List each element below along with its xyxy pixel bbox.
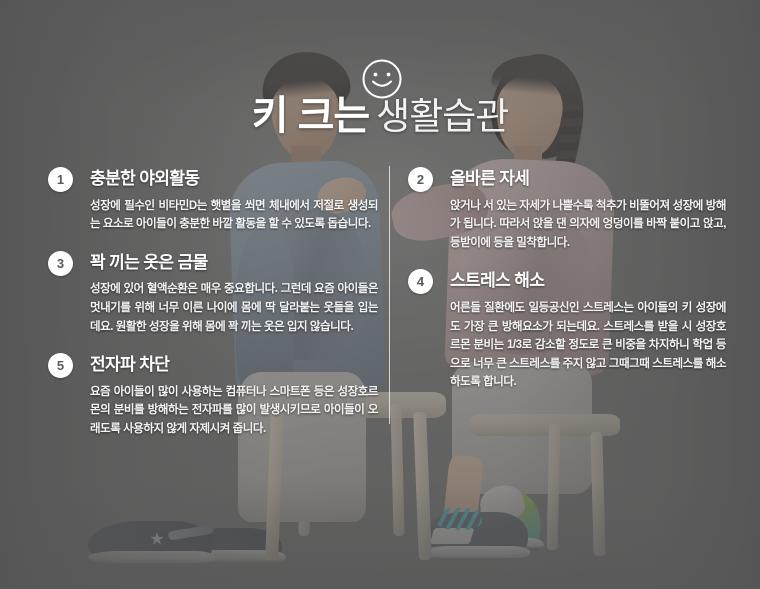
column-divider xyxy=(389,166,390,424)
tip-item-5: 5 전자파 차단 요즘 아이들이 많이 사용하는 컴퓨터나 스마트폰 등은 성장… xyxy=(48,352,378,438)
tip-title: 스트레스 해소 xyxy=(450,268,726,294)
tip-item-4: 4 스트레스 해소 어른들 질환에도 일등공신인 스트레스는 아이들의 키 성장… xyxy=(408,268,726,392)
tip-body: 성장에 필수인 비타민D는 햇볕을 쐬면 체내에서 저절로 생성되는 요소로 아… xyxy=(90,197,378,234)
tip-item-3: 3 꽉 끼는 옷은 금물 성장에 있어 혈액순환은 매우 중요합니다. 그런데 … xyxy=(48,250,378,336)
title-subject: 생활습관 xyxy=(376,96,508,137)
right-column: 2 올바른 자세 앉거나 서 있는 자세가 나쁠수록 척추가 비뚤어져 성장에 … xyxy=(408,166,726,392)
tip-body: 앉거나 서 있는 자세가 나쁠수록 척추가 비뚤어져 성장에 방해가 됩니다. … xyxy=(450,197,726,253)
tip-body: 어른들 질환에도 일등공신인 스트레스는 아이들의 키 성장에도 가장 큰 방해… xyxy=(450,299,726,392)
tip-title: 충분한 야외활동 xyxy=(90,166,378,192)
left-column: 1 충분한 야외활동 성장에 필수인 비타민D는 햇볕을 쐬면 체내에서 저절로… xyxy=(48,166,378,439)
tip-title: 올바른 자세 xyxy=(450,166,726,192)
tip-number-badge: 5 xyxy=(48,353,73,378)
tip-number-badge: 1 xyxy=(48,167,73,192)
title-emphasis: 키 크는 xyxy=(252,94,370,138)
tip-title: 전자파 차단 xyxy=(90,352,378,378)
tip-item-1: 1 충분한 야외활동 성장에 필수인 비타민D는 햇볕을 쐬면 체내에서 저절로… xyxy=(48,166,378,234)
tip-body: 성장에 있어 혈액순환은 매우 중요합니다. 그런데 요즘 아이들은 멋내기를 … xyxy=(90,280,378,336)
tip-body: 요즘 아이들이 많이 사용하는 컴퓨터나 스마트폰 등은 성장호르몬의 분비를 … xyxy=(90,383,378,439)
tip-number-badge: 4 xyxy=(408,269,433,294)
tip-number-badge: 2 xyxy=(408,167,433,192)
page-title: 키 크는생활습관 xyxy=(0,96,760,136)
tip-item-2: 2 올바른 자세 앉거나 서 있는 자세가 나쁠수록 척추가 비뚤어져 성장에 … xyxy=(408,166,726,252)
tip-title: 꽉 끼는 옷은 금물 xyxy=(90,250,378,276)
tip-number-badge: 3 xyxy=(48,251,73,276)
